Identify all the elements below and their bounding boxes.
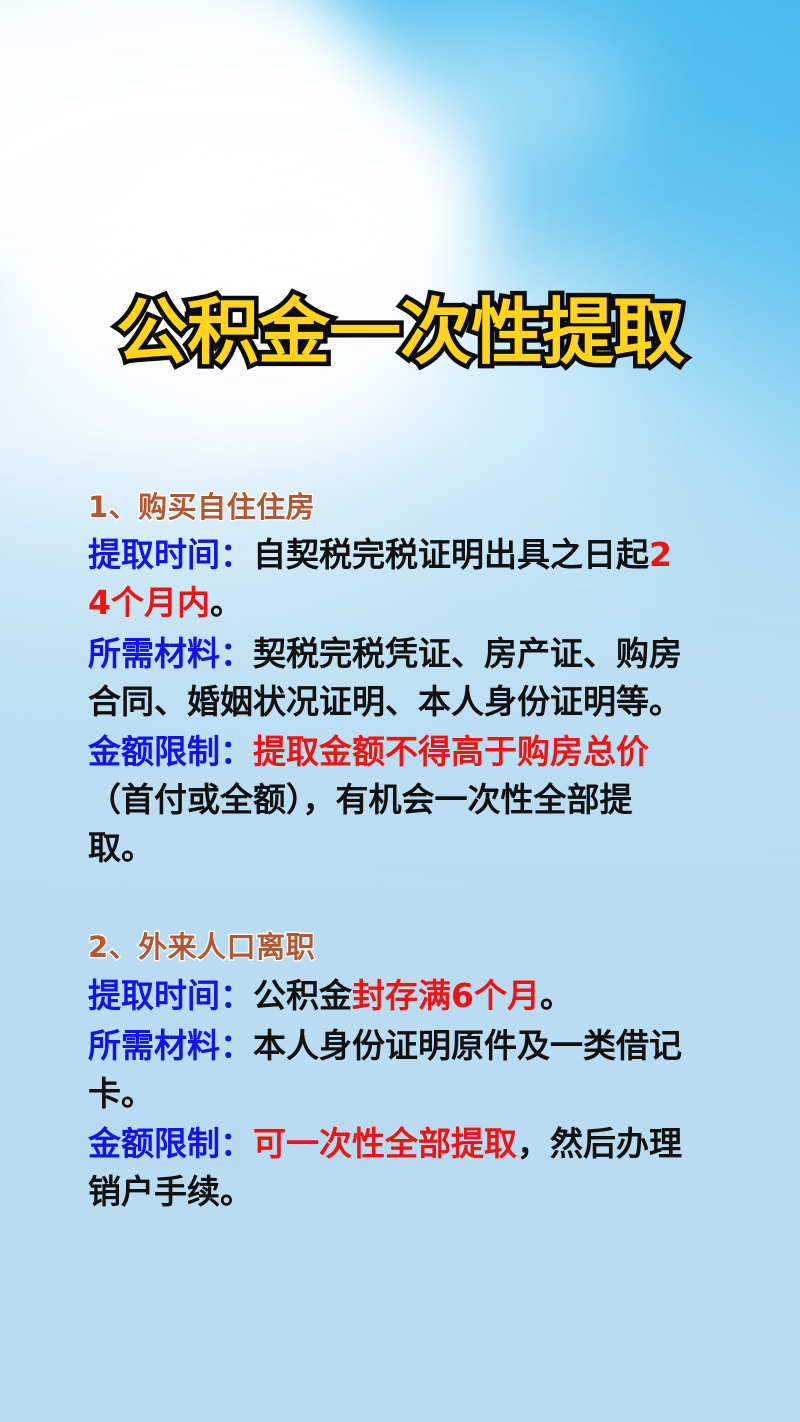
body-text: 自契税完税证明出具之日起 (253, 535, 649, 574)
body-text: 公积金 (253, 976, 352, 1015)
info-row: 提取时间：自契税完税证明出具之日起24个月内。 (88, 531, 688, 627)
poster-canvas: 公积金一次性提取 1、购买自住住房提取时间：自契税完税证明出具之日起24个月内。… (0, 0, 800, 1422)
body-text: 。 (210, 583, 243, 622)
sections-container: 1、购买自住住房提取时间：自契税完税证明出具之日起24个月内。所需材料：契税完税… (88, 488, 688, 1217)
info-row: 所需材料：本人身份证明原件及一类借记卡。 (88, 1022, 688, 1118)
highlighted-text: 封存满6个月 (352, 976, 540, 1015)
info-row-label: 所需材料： (88, 1026, 253, 1065)
info-row-label: 金额限制： (88, 1124, 253, 1163)
info-row: 所需材料：契税完税凭证、房产证、购房合同、婚姻状况证明、本人身份证明等。 (88, 630, 688, 726)
section-heading: 2、外来人口离职 (88, 928, 688, 966)
body-text: 。 (540, 976, 573, 1015)
page-title: 公积金一次性提取 (0, 296, 800, 368)
content-section: 2、外来人口离职提取时间：公积金封存满6个月。所需材料：本人身份证明原件及一类借… (88, 928, 688, 1216)
info-row-label: 所需材料： (88, 634, 253, 673)
highlighted-text: 提取金额不得高于购房总价 (253, 732, 649, 771)
info-row-label: 提取时间： (88, 976, 253, 1015)
body-text: （首付或全额），有机会一次性全部提取。 (88, 780, 633, 867)
poster-content: 公积金一次性提取 1、购买自住住房提取时间：自契税完税证明出具之日起24个月内。… (0, 0, 800, 1422)
section-heading: 1、购买自住住房 (88, 488, 688, 526)
info-row: 金额限制：可一次性全部提取，然后办理销户手续。 (88, 1120, 688, 1216)
info-row-label: 提取时间： (88, 535, 253, 574)
highlighted-text: 可一次性全部提取 (253, 1124, 517, 1163)
info-row: 提取时间：公积金封存满6个月。 (88, 972, 688, 1020)
content-section: 1、购买自住住房提取时间：自契税完税证明出具之日起24个月内。所需材料：契税完税… (88, 488, 688, 872)
info-row: 金额限制：提取金额不得高于购房总价（首付或全额），有机会一次性全部提取。 (88, 728, 688, 873)
info-row-label: 金额限制： (88, 732, 253, 771)
